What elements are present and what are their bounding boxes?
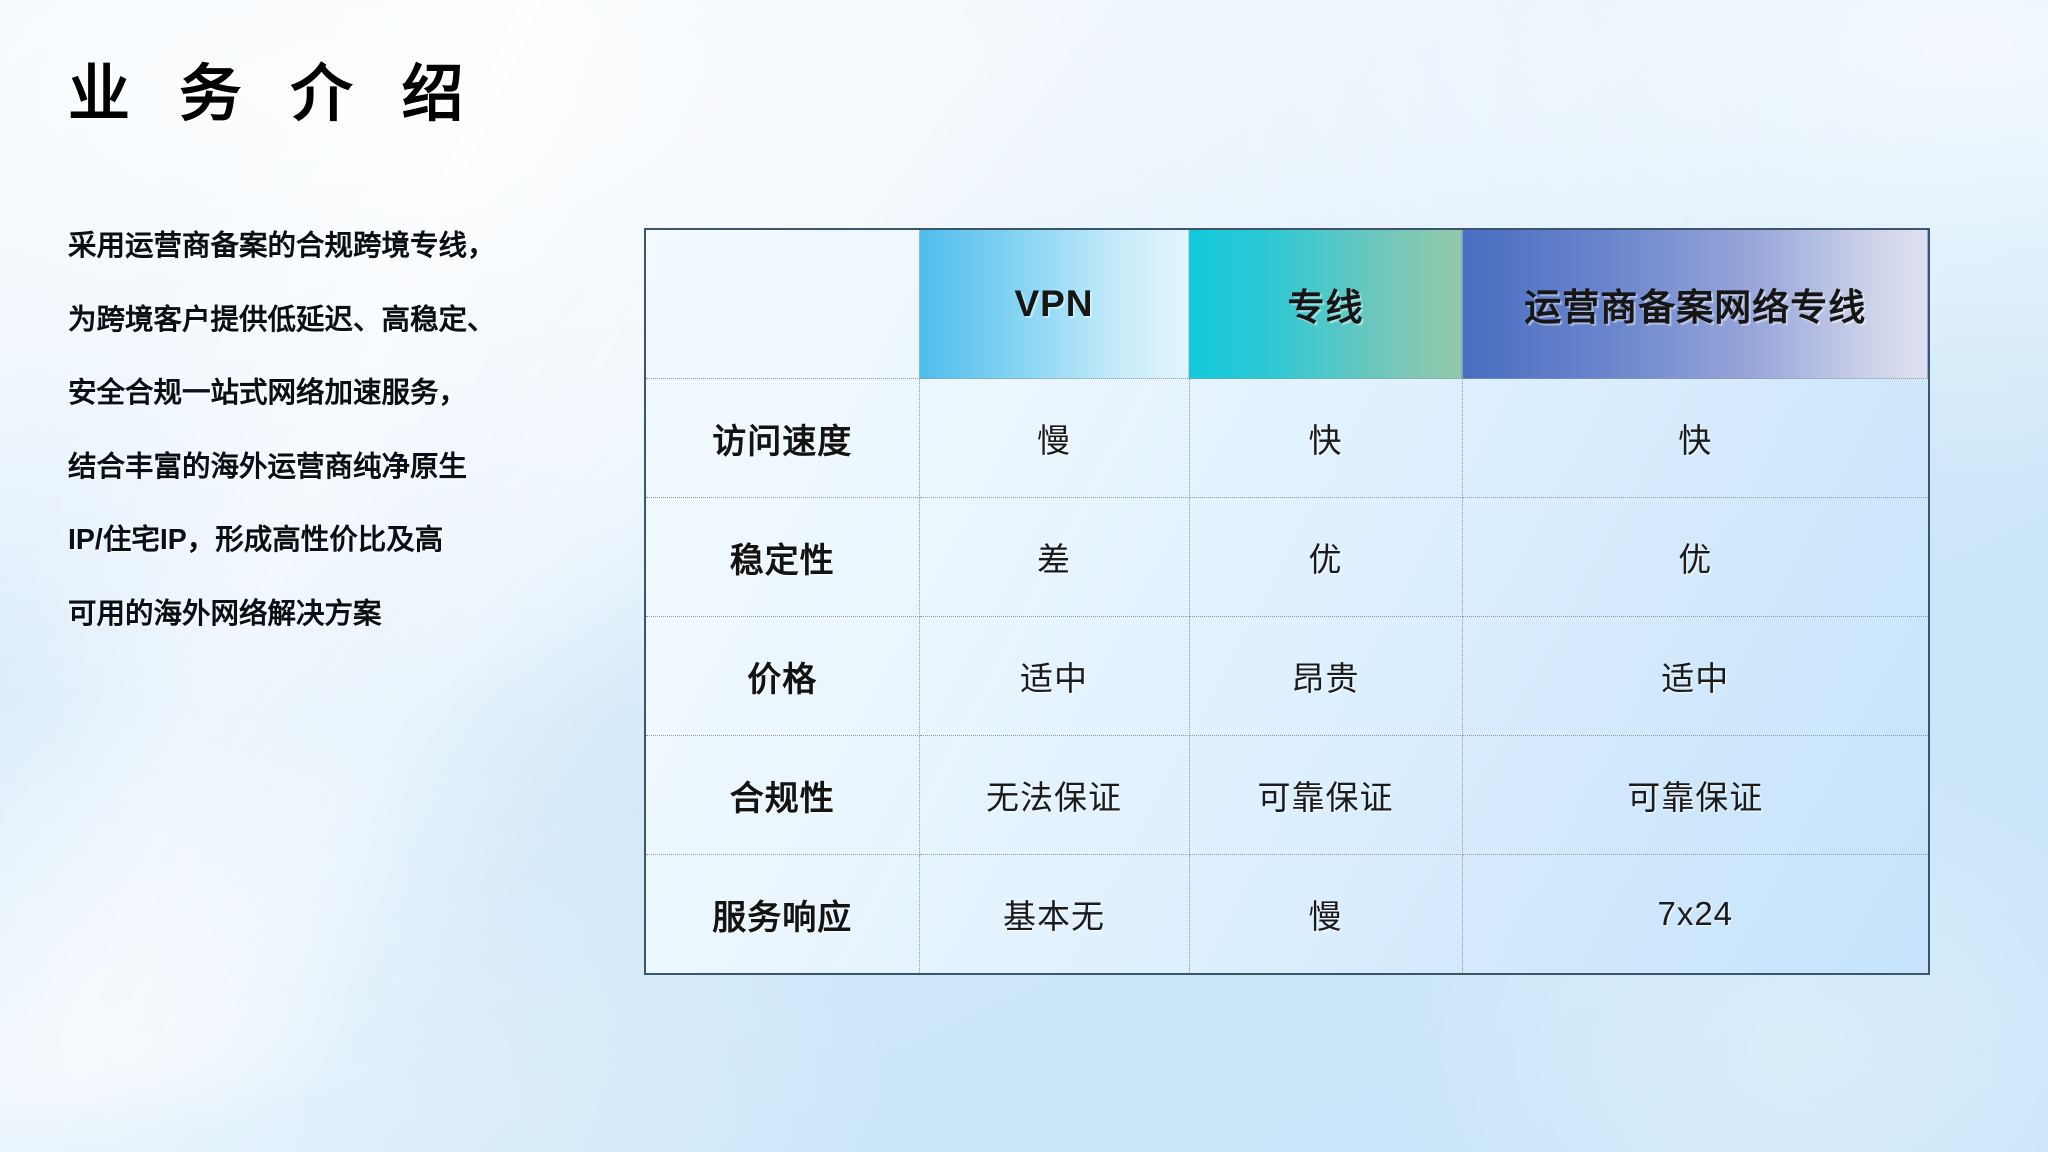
cell-compliance-dedicated-line: 可靠保证 [1189,736,1462,855]
cell-service-response-filed-network-line: 7x24 [1462,855,1929,975]
cell-access-speed-dedicated-line: 快 [1189,379,1462,498]
intro-line-2: 为跨境客户提供低延迟、高稳定、 [68,306,628,335]
cell-stability-filed-network-line: 优 [1462,498,1929,617]
cell-service-response-vpn: 基本无 [919,855,1189,975]
row-label-stability: 稳定性 [645,498,919,617]
cell-price-dedicated-line: 昂贵 [1189,617,1462,736]
cell-access-speed-filed-network-line: 快 [1462,379,1929,498]
cell-price-filed-network-line: 适中 [1462,617,1929,736]
intro-line-1: 采用运营商备案的合规跨境专线， [68,232,628,261]
cell-stability-vpn: 差 [919,498,1189,617]
row-label-access-speed: 访问速度 [645,379,919,498]
intro-line-3: 安全合规一站式网络加速服务， [68,379,628,408]
cell-compliance-vpn: 无法保证 [919,736,1189,855]
intro-paragraph: 采用运营商备案的合规跨境专线， 为跨境客户提供低延迟、高稳定、 安全合规一站式网… [68,232,628,628]
table-header-dedicated-line: 专线 [1189,229,1462,379]
intro-line-4: 结合丰富的海外运营商纯净原生 [68,453,628,482]
table-row: 服务响应 基本无 慢 7x24 [645,855,1929,975]
table-header-corner [645,229,919,379]
cell-price-vpn: 适中 [919,617,1189,736]
table-header-row: VPN 专线 运营商备案网络专线 [645,229,1929,379]
row-label-service-response: 服务响应 [645,855,919,975]
table-row: 稳定性 差 优 优 [645,498,1929,617]
row-label-price: 价格 [645,617,919,736]
intro-line-6: 可用的海外网络解决方案 [68,600,628,629]
cell-access-speed-vpn: 慢 [919,379,1189,498]
cell-service-response-dedicated-line: 慢 [1189,855,1462,975]
table-header-filed-network-line: 运营商备案网络专线 [1462,229,1929,379]
intro-line-5: IP/住宅IP，形成高性价比及高 [68,526,628,555]
row-label-compliance: 合规性 [645,736,919,855]
cell-compliance-filed-network-line: 可靠保证 [1462,736,1929,855]
page-title: 业 务 介 绍 [68,62,480,127]
table-row: 访问速度 慢 快 快 [645,379,1929,498]
table-row: 合规性 无法保证 可靠保证 可靠保证 [645,736,1929,855]
cell-stability-dedicated-line: 优 [1189,498,1462,617]
slide-root: 业 务 介 绍 采用运营商备案的合规跨境专线， 为跨境客户提供低延迟、高稳定、 … [0,0,2048,1152]
table-header-vpn: VPN [919,229,1189,379]
table-row: 价格 适中 昂贵 适中 [645,617,1929,736]
comparison-table: VPN 专线 运营商备案网络专线 访问速度 慢 快 快 稳定性 差 优 优 价格… [644,228,1930,975]
